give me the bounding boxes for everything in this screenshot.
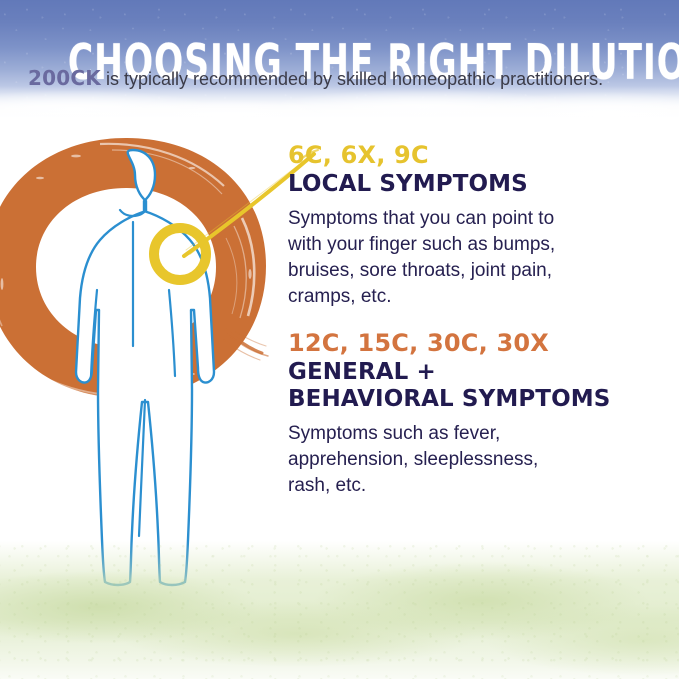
body-line: Symptoms that you can point to [288,206,660,232]
dilution-codes-local: 6C, 6X, 9C [288,140,660,170]
body-line: bruises, sore throats, joint pain, [288,258,660,284]
body-line: with your finger such as bumps, [288,232,660,258]
footer-wash-grain [0,541,679,679]
body-line: apprehension, sleeplessness, [288,447,660,473]
section-general-behavioral-symptoms: 12C, 15C, 30C, 30X GENERAL + BEHAVIORAL … [288,328,660,499]
dilution-codes-general: 12C, 15C, 30C, 30X [288,328,660,358]
header-banner: CHOOSING THE RIGHT DILUTION [0,0,679,124]
footer-note: 200CK is typically recommended by skille… [28,66,668,91]
heading-line: GENERAL + [288,359,660,386]
body-line: rash, etc. [288,473,660,499]
infographic-poster: CHOOSING THE RIGHT DILUTION [0,0,679,679]
section-body-local: Symptoms that you can point to with your… [288,206,660,310]
section-heading-local: LOCAL SYMPTOMS [288,171,660,198]
section-heading-general: GENERAL + BEHAVIORAL SYMPTOMS [288,359,660,413]
section-local-symptoms: 6C, 6X, 9C LOCAL SYMPTOMS Symptoms that … [288,140,660,310]
footer-watercolor-band [0,537,679,679]
dilution-sections: 6C, 6X, 9C LOCAL SYMPTOMS Symptoms that … [288,140,660,499]
footer-note-text: is typically recommended by skilled home… [101,69,603,89]
body-line: Symptoms such as fever, [288,421,660,447]
section-body-general: Symptoms such as fever, apprehension, sl… [288,421,660,499]
heading-line: BEHAVIORAL SYMPTOMS [288,386,660,413]
body-diagram [0,118,300,598]
footer-wash-paint [0,541,679,679]
footer-dilution-code: 200CK [28,66,101,90]
body-line: cramps, etc. [288,284,660,310]
